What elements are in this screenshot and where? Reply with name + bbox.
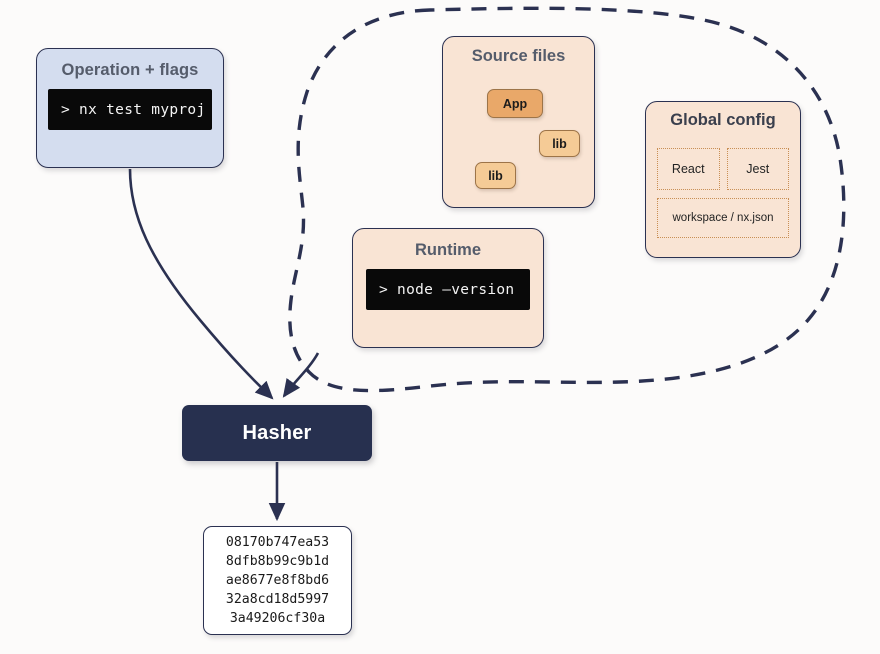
- source-node-lib-left[interactable]: lib: [475, 162, 516, 189]
- runtime-command-text: > node –version: [379, 282, 514, 298]
- source-node-app[interactable]: App: [487, 89, 543, 118]
- global-config-row-top: React Jest: [657, 148, 789, 190]
- hash-line: 3a49206cf30a: [230, 609, 325, 628]
- arrow-inputs-to-hasher: [284, 353, 318, 396]
- operation-terminal[interactable]: > nx test myproj: [48, 89, 212, 130]
- runtime-terminal[interactable]: > node –version: [366, 269, 530, 310]
- global-config-cell-workspace[interactable]: workspace / nx.json: [657, 198, 789, 238]
- operation-card-title: Operation + flags: [48, 61, 212, 80]
- hash-line: 08170b747ea53: [226, 533, 329, 552]
- operation-command-text: > nx test myproj: [61, 102, 205, 118]
- runtime-card-title: Runtime: [366, 241, 530, 260]
- global-config-title: Global config: [646, 102, 800, 130]
- hasher-label: Hasher: [242, 422, 311, 445]
- source-files-card[interactable]: Source files App lib lib: [442, 36, 595, 208]
- hash-line: ae8677e8f8bd6: [226, 571, 329, 590]
- global-config-cell-jest[interactable]: Jest: [727, 148, 790, 190]
- global-config-row-bottom: workspace / nx.json: [657, 198, 789, 238]
- source-files-title: Source files: [443, 37, 594, 66]
- runtime-card[interactable]: Runtime > node –version: [352, 228, 544, 348]
- hash-line: 8dfb8b99c9b1d: [226, 552, 329, 571]
- global-config-card[interactable]: Global config React Jest workspace / nx.…: [645, 101, 801, 258]
- hasher-node[interactable]: Hasher: [182, 405, 372, 461]
- diagram-canvas: Operation + flags > nx test myproj Sourc…: [0, 0, 880, 654]
- hash-line: 32a8cd18d5997: [226, 590, 329, 609]
- source-node-lib-right[interactable]: lib: [539, 130, 580, 157]
- hash-output-card: 08170b747ea53 8dfb8b99c9b1d ae8677e8f8bd…: [203, 526, 352, 635]
- global-config-cell-react[interactable]: React: [657, 148, 720, 190]
- operation-flags-card[interactable]: Operation + flags > nx test myproj: [36, 48, 224, 168]
- arrow-operation-to-hasher: [130, 169, 272, 398]
